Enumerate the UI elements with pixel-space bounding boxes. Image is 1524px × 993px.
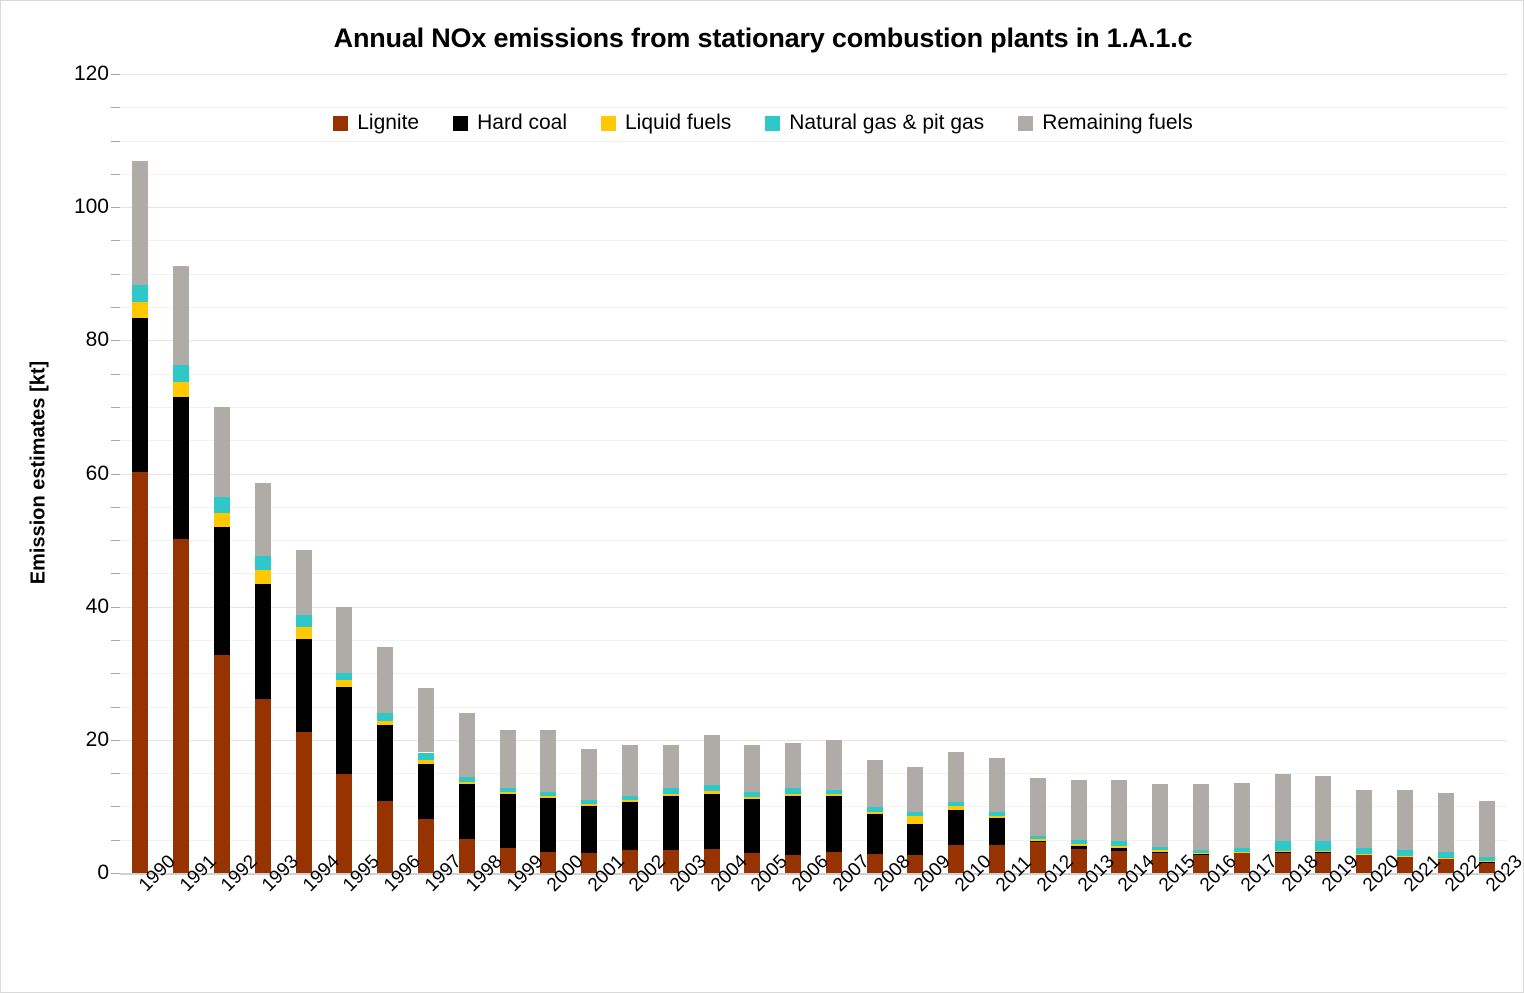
bar-segment[interactable] bbox=[1234, 852, 1250, 853]
bar-segment[interactable] bbox=[173, 397, 189, 539]
y-axis-tick-mark bbox=[111, 141, 120, 142]
bar-column[interactable] bbox=[663, 74, 679, 873]
bar-column[interactable] bbox=[704, 74, 720, 873]
bar-segment[interactable] bbox=[214, 407, 230, 498]
bar-column[interactable] bbox=[214, 74, 230, 873]
bar-segment[interactable] bbox=[173, 266, 189, 365]
y-axis-tick-mark bbox=[111, 207, 120, 208]
bar-segment[interactable] bbox=[948, 802, 964, 806]
bar-column[interactable] bbox=[826, 74, 842, 873]
bar-column[interactable] bbox=[867, 74, 883, 873]
bar-segment[interactable] bbox=[459, 782, 475, 784]
bar-segment[interactable] bbox=[173, 539, 189, 873]
bar-segment[interactable] bbox=[826, 740, 842, 790]
y-axis-tick-label: 0 bbox=[13, 861, 109, 885]
bar-segment[interactable] bbox=[907, 812, 923, 816]
bar-column[interactable] bbox=[622, 74, 638, 873]
bar-column[interactable] bbox=[1356, 74, 1372, 873]
bar-column[interactable] bbox=[336, 74, 352, 873]
bar-segment[interactable] bbox=[1315, 841, 1331, 851]
bar-segment[interactable] bbox=[255, 699, 271, 873]
bar-segment[interactable] bbox=[744, 799, 760, 853]
bar-segment[interactable] bbox=[622, 745, 638, 796]
bar-segment[interactable] bbox=[1275, 851, 1291, 852]
bar-segment[interactable] bbox=[214, 655, 230, 873]
bar-segment[interactable] bbox=[132, 161, 148, 286]
y-axis-tick-mark bbox=[111, 340, 120, 341]
bar-column[interactable] bbox=[989, 74, 1005, 873]
bar-segment[interactable] bbox=[989, 758, 1005, 811]
y-axis-tick-label: 60 bbox=[13, 462, 109, 486]
bar-segment[interactable] bbox=[1030, 841, 1046, 842]
bar-segment[interactable] bbox=[540, 796, 556, 798]
bar-segment[interactable] bbox=[1152, 784, 1168, 847]
bar-segment[interactable] bbox=[663, 788, 679, 793]
bar-segment[interactable] bbox=[704, 735, 720, 785]
y-axis-tick-mark bbox=[111, 174, 120, 175]
bar-segment[interactable] bbox=[296, 550, 312, 615]
bar-column[interactable] bbox=[744, 74, 760, 873]
bar-segment[interactable] bbox=[1438, 852, 1454, 858]
bar-segment[interactable] bbox=[336, 687, 352, 775]
bar-segment[interactable] bbox=[907, 767, 923, 812]
bar-segment[interactable] bbox=[581, 749, 597, 801]
bar-segment[interactable] bbox=[744, 745, 760, 792]
bar-segment[interactable] bbox=[1111, 841, 1127, 846]
bar-column[interactable] bbox=[1111, 74, 1127, 873]
bar-column[interactable] bbox=[1234, 74, 1250, 873]
bar-segment[interactable] bbox=[1234, 848, 1250, 851]
bar-segment[interactable] bbox=[296, 627, 312, 639]
bar-column[interactable] bbox=[1438, 74, 1454, 873]
bar-segment[interactable] bbox=[989, 818, 1005, 845]
bar-segment[interactable] bbox=[132, 285, 148, 302]
bar-column[interactable] bbox=[785, 74, 801, 873]
bar-segment[interactable] bbox=[1315, 851, 1331, 852]
chart-title: Annual NOx emissions from stationary com… bbox=[1, 23, 1524, 54]
bar-segment[interactable] bbox=[1438, 858, 1454, 859]
y-axis-tick-mark bbox=[111, 673, 120, 674]
bar-segment[interactable] bbox=[1193, 854, 1209, 855]
bar-segment[interactable] bbox=[989, 816, 1005, 819]
bar-segment[interactable] bbox=[581, 806, 597, 853]
bar-segment[interactable] bbox=[459, 784, 475, 839]
y-axis-tick-label: 120 bbox=[13, 62, 109, 86]
y-axis-tick-mark bbox=[111, 474, 120, 475]
bar-column[interactable] bbox=[500, 74, 516, 873]
bar-segment[interactable] bbox=[948, 810, 964, 845]
bar-segment[interactable] bbox=[1030, 836, 1046, 839]
bar-series-group bbox=[120, 74, 1507, 873]
y-axis-tick-mark bbox=[111, 107, 120, 108]
x-axis-tick-labels: 1990199119921993199419951996199719981999… bbox=[120, 881, 1507, 991]
bar-segment[interactable] bbox=[1030, 778, 1046, 837]
bar-segment[interactable] bbox=[1275, 774, 1291, 841]
bar-segment[interactable] bbox=[459, 777, 475, 782]
bar-segment[interactable] bbox=[1356, 854, 1372, 855]
bar-column[interactable] bbox=[948, 74, 964, 873]
bar-segment[interactable] bbox=[214, 513, 230, 528]
bar-segment[interactable] bbox=[214, 527, 230, 655]
bar-segment[interactable] bbox=[704, 785, 720, 791]
bar-segment[interactable] bbox=[1193, 853, 1209, 854]
bar-segment[interactable] bbox=[1234, 783, 1250, 848]
bar-column[interactable] bbox=[377, 74, 393, 873]
bar-segment[interactable] bbox=[418, 688, 434, 753]
bar-segment[interactable] bbox=[663, 745, 679, 788]
bar-column[interactable] bbox=[1152, 74, 1168, 873]
bar-segment[interactable] bbox=[336, 607, 352, 673]
bar-segment[interactable] bbox=[826, 790, 842, 795]
bar-segment[interactable] bbox=[663, 796, 679, 850]
bar-segment[interactable] bbox=[744, 792, 760, 797]
bar-segment[interactable] bbox=[540, 792, 556, 796]
bar-segment[interactable] bbox=[989, 812, 1005, 816]
y-axis-tick-label: 40 bbox=[13, 595, 109, 619]
bar-segment[interactable] bbox=[1152, 850, 1168, 852]
bar-segment[interactable] bbox=[1111, 846, 1127, 849]
bar-segment[interactable] bbox=[540, 730, 556, 793]
y-axis-tick-mark bbox=[111, 74, 120, 75]
bar-segment[interactable] bbox=[1193, 850, 1209, 853]
y-axis-tick-mark bbox=[111, 806, 120, 807]
bar-segment[interactable] bbox=[1315, 852, 1331, 853]
bar-segment[interactable] bbox=[418, 753, 434, 760]
bar-segment[interactable] bbox=[132, 302, 148, 319]
y-axis-tick-mark bbox=[111, 773, 120, 774]
y-axis-tick-mark bbox=[111, 407, 120, 408]
bar-segment[interactable] bbox=[1234, 852, 1250, 853]
bar-segment[interactable] bbox=[1438, 858, 1454, 859]
bar-segment[interactable] bbox=[622, 800, 638, 802]
bar-segment[interactable] bbox=[255, 556, 271, 570]
bar-segment[interactable] bbox=[1071, 780, 1087, 840]
bar-segment[interactable] bbox=[173, 365, 189, 382]
bar-segment[interactable] bbox=[1275, 852, 1291, 853]
bar-segment[interactable] bbox=[296, 732, 312, 873]
bar-segment[interactable] bbox=[1071, 840, 1087, 843]
y-axis-tick-mark bbox=[111, 374, 120, 375]
bar-segment[interactable] bbox=[1397, 790, 1413, 851]
y-axis-tick-mark bbox=[111, 240, 120, 241]
bar-segment[interactable] bbox=[418, 764, 434, 819]
bar-segment[interactable] bbox=[785, 743, 801, 788]
bar-segment[interactable] bbox=[1356, 848, 1372, 853]
bar-segment[interactable] bbox=[867, 814, 883, 854]
y-axis-tick-mark bbox=[111, 307, 120, 308]
bar-segment[interactable] bbox=[1356, 790, 1372, 848]
bar-segment[interactable] bbox=[255, 483, 271, 556]
bar-segment[interactable] bbox=[132, 318, 148, 472]
bar-segment[interactable] bbox=[500, 788, 516, 792]
bar-segment[interactable] bbox=[1275, 841, 1291, 851]
bar-segment[interactable] bbox=[867, 812, 883, 814]
bar-segment[interactable] bbox=[867, 807, 883, 812]
bar-segment[interactable] bbox=[581, 804, 597, 806]
y-axis-tick-mark bbox=[111, 640, 120, 641]
bar-segment[interactable] bbox=[785, 796, 801, 855]
bar-segment[interactable] bbox=[704, 791, 720, 794]
bar-column[interactable] bbox=[418, 74, 434, 873]
bar-segment[interactable] bbox=[500, 794, 516, 848]
bar-segment[interactable] bbox=[132, 472, 148, 873]
bar-segment[interactable] bbox=[336, 673, 352, 680]
y-axis-tick-mark bbox=[111, 440, 120, 441]
bar-segment[interactable] bbox=[255, 584, 271, 699]
bar-column[interactable] bbox=[255, 74, 271, 873]
y-axis-tick-mark bbox=[111, 607, 120, 608]
bar-column[interactable] bbox=[1275, 74, 1291, 873]
bar-column[interactable] bbox=[173, 74, 189, 873]
bar-segment[interactable] bbox=[826, 794, 842, 796]
bar-column[interactable] bbox=[1479, 74, 1495, 873]
bar-column[interactable] bbox=[1071, 74, 1087, 873]
bar-segment[interactable] bbox=[1111, 780, 1127, 841]
y-axis-tick-mark bbox=[111, 873, 120, 874]
bar-segment[interactable] bbox=[785, 794, 801, 796]
bar-segment[interactable] bbox=[785, 788, 801, 793]
bar-segment[interactable] bbox=[377, 647, 393, 713]
bar-segment[interactable] bbox=[214, 497, 230, 512]
bar-segment[interactable] bbox=[1397, 856, 1413, 857]
bar-segment[interactable] bbox=[296, 615, 312, 627]
bar-segment[interactable] bbox=[744, 797, 760, 799]
bar-segment[interactable] bbox=[948, 752, 964, 802]
bar-column[interactable] bbox=[1397, 74, 1413, 873]
bar-segment[interactable] bbox=[1315, 776, 1331, 841]
y-axis-tick-mark bbox=[111, 840, 120, 841]
bar-column[interactable] bbox=[581, 74, 597, 873]
bar-segment[interactable] bbox=[1152, 852, 1168, 853]
bar-segment[interactable] bbox=[377, 713, 393, 721]
bar-segment[interactable] bbox=[1397, 856, 1413, 857]
plot-area bbox=[120, 74, 1507, 873]
bar-column[interactable] bbox=[459, 74, 475, 873]
bar-segment[interactable] bbox=[1152, 847, 1168, 850]
bar-column[interactable] bbox=[296, 74, 312, 873]
bar-segment[interactable] bbox=[1071, 846, 1087, 849]
bar-segment[interactable] bbox=[500, 792, 516, 794]
bar-column[interactable] bbox=[540, 74, 556, 873]
bar-column[interactable] bbox=[132, 74, 148, 873]
y-axis-tick-mark bbox=[111, 573, 120, 574]
bar-column[interactable] bbox=[1030, 74, 1046, 873]
bar-segment[interactable] bbox=[377, 725, 393, 801]
y-axis-tick-label: 20 bbox=[13, 728, 109, 752]
y-axis-tick-mark bbox=[111, 707, 120, 708]
bar-column[interactable] bbox=[1315, 74, 1331, 873]
bar-segment[interactable] bbox=[663, 794, 679, 796]
bar-column[interactable] bbox=[1193, 74, 1209, 873]
bar-segment[interactable] bbox=[336, 774, 352, 873]
bar-segment[interactable] bbox=[907, 816, 923, 825]
bar-segment[interactable] bbox=[1397, 850, 1413, 855]
bar-segment[interactable] bbox=[1071, 844, 1087, 846]
y-axis-tick-labels: 120100806040200 bbox=[1, 74, 109, 873]
bar-segment[interactable] bbox=[296, 639, 312, 732]
bar-segment[interactable] bbox=[1111, 848, 1127, 851]
bar-segment[interactable] bbox=[540, 798, 556, 851]
bar-segment[interactable] bbox=[1438, 793, 1454, 852]
y-axis-tick-mark bbox=[111, 540, 120, 541]
y-axis-tick-mark bbox=[111, 274, 120, 275]
bar-segment[interactable] bbox=[622, 796, 638, 800]
bar-segment[interactable] bbox=[1193, 784, 1209, 849]
bar-segment[interactable] bbox=[1356, 854, 1372, 855]
bar-segment[interactable] bbox=[1479, 801, 1495, 857]
bar-segment[interactable] bbox=[907, 824, 923, 855]
chart-figure: Annual NOx emissions from stationary com… bbox=[0, 0, 1524, 993]
bar-segment[interactable] bbox=[867, 760, 883, 807]
bar-segment[interactable] bbox=[1030, 839, 1046, 841]
bar-segment[interactable] bbox=[948, 806, 964, 809]
bar-segment[interactable] bbox=[459, 713, 475, 777]
y-axis-tick-label: 80 bbox=[13, 328, 109, 352]
y-axis-tick-mark bbox=[111, 740, 120, 741]
y-axis-tick-mark bbox=[111, 507, 120, 508]
bar-segment[interactable] bbox=[622, 802, 638, 850]
bar-segment[interactable] bbox=[336, 680, 352, 687]
bar-segment[interactable] bbox=[704, 794, 720, 849]
bar-segment[interactable] bbox=[826, 796, 842, 851]
bar-segment[interactable] bbox=[500, 730, 516, 788]
bar-segment[interactable] bbox=[581, 800, 597, 804]
bar-segment[interactable] bbox=[377, 721, 393, 726]
bar-column[interactable] bbox=[907, 74, 923, 873]
bar-segment[interactable] bbox=[418, 760, 434, 764]
bar-segment[interactable] bbox=[255, 570, 271, 584]
bar-segment[interactable] bbox=[173, 382, 189, 397]
y-axis-tick-label: 100 bbox=[13, 195, 109, 219]
